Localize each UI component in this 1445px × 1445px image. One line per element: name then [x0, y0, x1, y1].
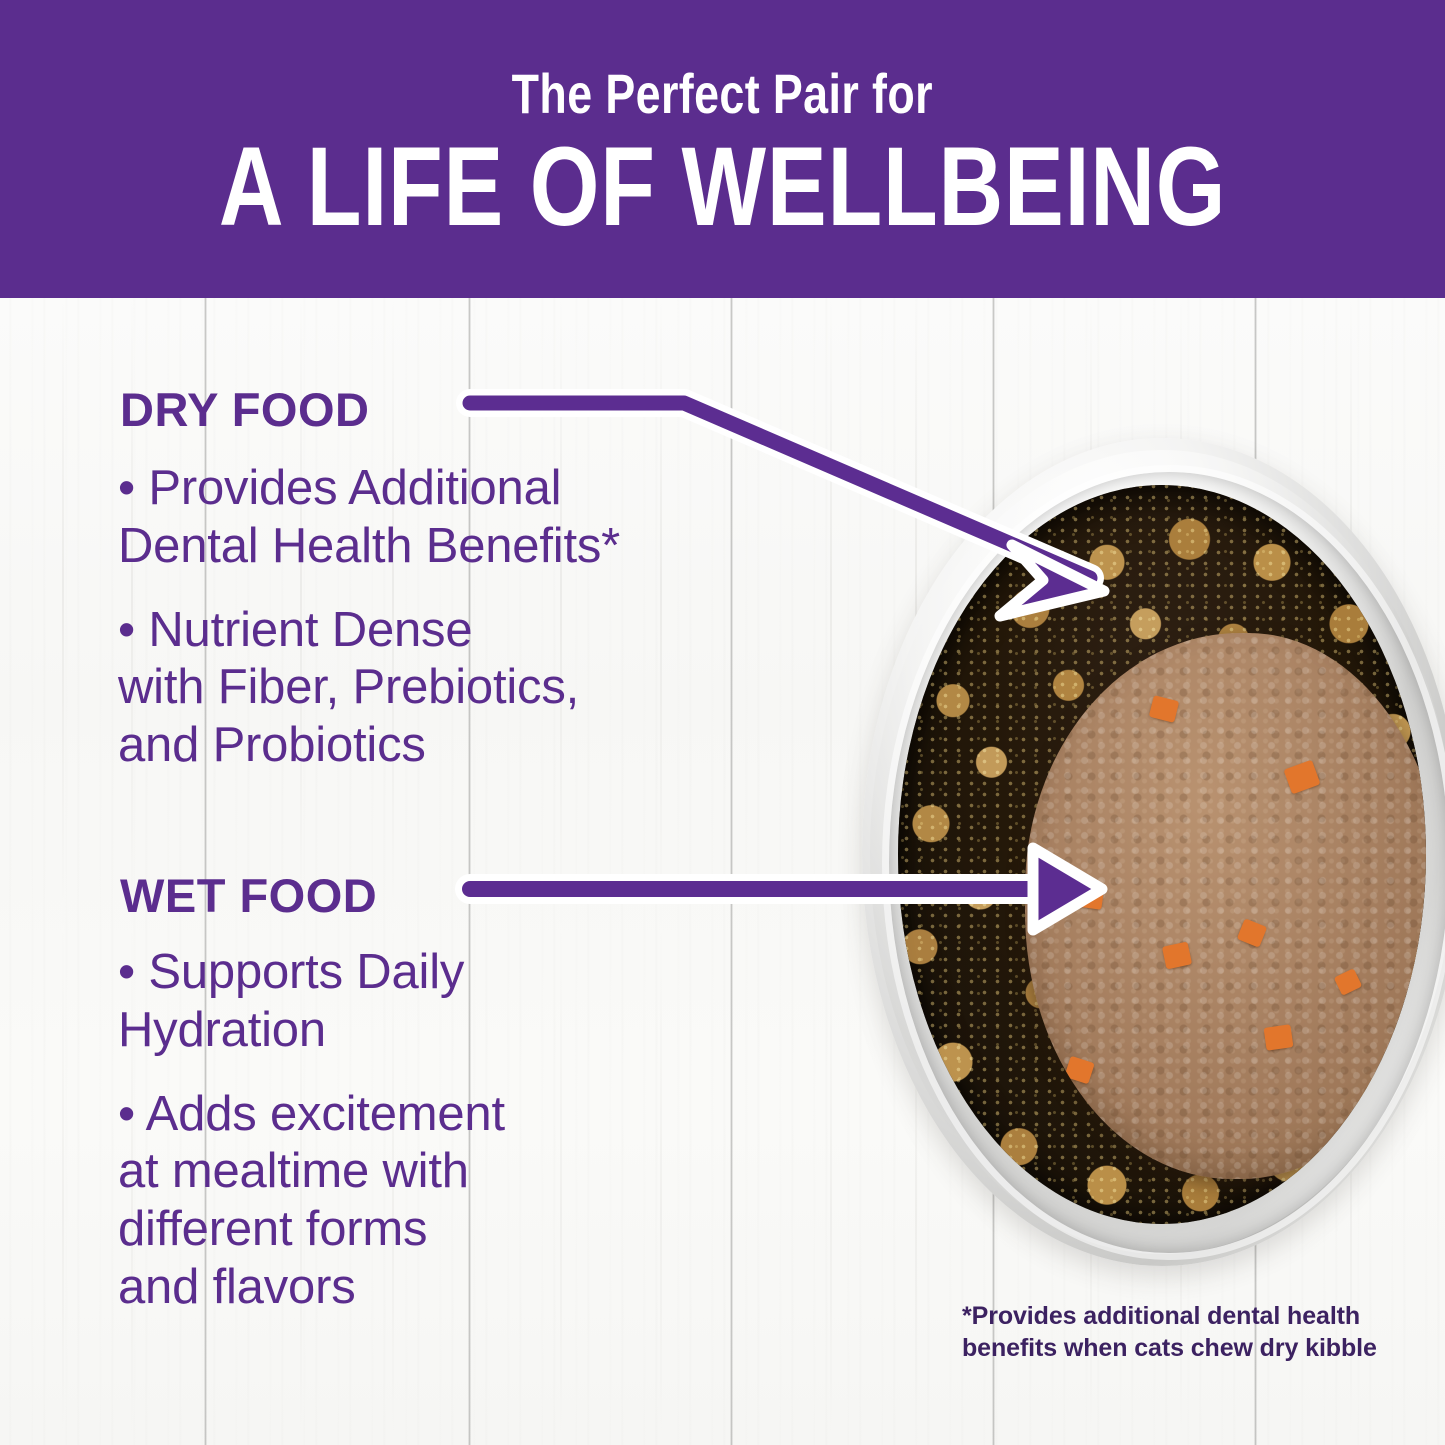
bullet-line: • Adds excitement [118, 1086, 798, 1144]
bullet-line: • Supports Daily [118, 944, 798, 1002]
bullet-line: at mealtime with [118, 1143, 798, 1201]
bullet-line: with Fiber, Prebiotics, [118, 659, 798, 717]
carrot-piece [1162, 942, 1192, 970]
wood-grain-line [62, 297, 64, 1445]
pet-food-bowl-photo [862, 438, 1445, 1273]
carrot-piece [1264, 1024, 1294, 1051]
list-item: • Adds excitement at mealtime with diffe… [118, 1086, 798, 1317]
carrot-piece [1237, 919, 1267, 948]
carrot-piece [1149, 695, 1180, 723]
dry-food-bullet-list: • Provides Additional Dental Health Bene… [118, 460, 798, 775]
header-subtitle: The Perfect Pair for [512, 65, 933, 122]
promo-graphic: The Perfect Pair for A LIFE OF WELLBEING… [0, 0, 1445, 1445]
bullet-line: Hydration [118, 1002, 798, 1060]
carrot-piece [1334, 968, 1363, 996]
bullet-line: different forms [118, 1201, 798, 1259]
footnote: *Provides additional dental health benef… [962, 1300, 1382, 1364]
carrot-piece [1283, 759, 1320, 794]
list-item: • Provides Additional Dental Health Bene… [118, 460, 798, 576]
wet-food-pate [1025, 633, 1426, 1180]
list-item: • Supports Daily Hydration [118, 944, 798, 1060]
dry-food-heading: DRY FOOD [120, 382, 369, 437]
carrot-piece [1074, 882, 1105, 910]
list-item: • Nutrient Dense with Fiber, Prebiotics,… [118, 602, 798, 775]
wet-food-bullet-list: • Supports Daily Hydration • Adds excite… [118, 944, 798, 1317]
header-banner: The Perfect Pair for A LIFE OF WELLBEING [0, 0, 1445, 298]
wet-food-heading: WET FOOD [120, 868, 377, 923]
bullet-line: and Probiotics [118, 717, 798, 775]
footnote-line: benefits when cats chew dry kibble [962, 1332, 1382, 1364]
bullet-line: and flavors [118, 1259, 798, 1317]
bullet-line: Dental Health Benefits* [118, 518, 798, 576]
footnote-line: *Provides additional dental health [962, 1300, 1382, 1332]
bullet-line: • Nutrient Dense [118, 602, 798, 660]
bullet-line: • Provides Additional [118, 460, 798, 518]
carrot-piece [1064, 1056, 1095, 1085]
wood-grain-line [830, 297, 832, 1445]
bowl-interior [898, 485, 1426, 1224]
header-title: A LIFE OF WELLBEING [219, 131, 1226, 243]
